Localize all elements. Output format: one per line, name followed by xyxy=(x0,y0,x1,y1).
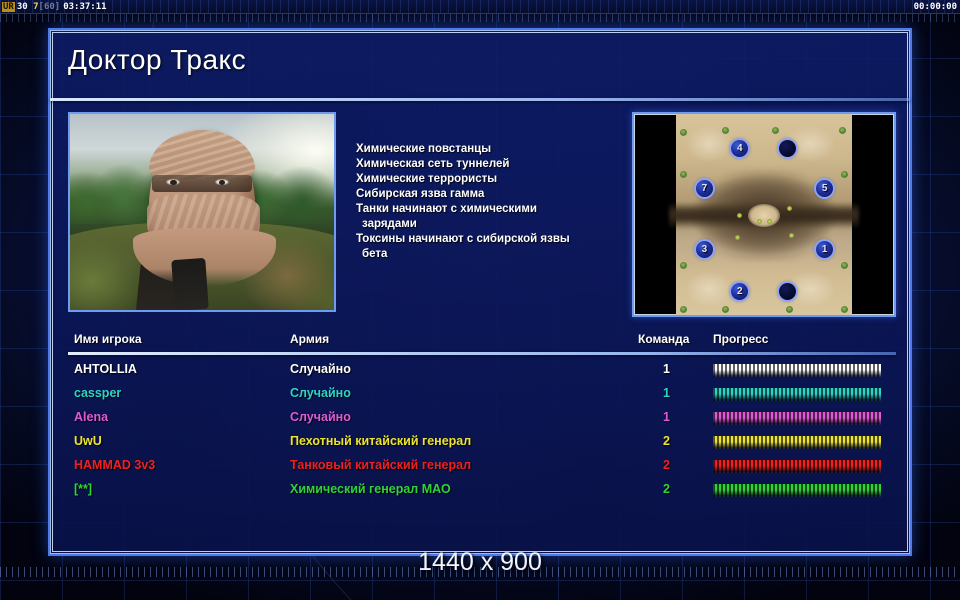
map-center-oasis xyxy=(748,204,780,226)
hud-status-strip: UR30 7[60]03:37:11 00:00:00 xyxy=(0,0,960,14)
progress-bar-stripes xyxy=(713,412,881,425)
map-preview-image: 475312 xyxy=(676,114,853,315)
player-team: 2 xyxy=(638,482,670,496)
player-team: 2 xyxy=(638,434,670,448)
portrait-weapon xyxy=(171,258,209,311)
progress-bar-stripes xyxy=(713,436,881,449)
progress-bar-stripes xyxy=(713,388,881,401)
map-start-position-marker[interactable]: 3 xyxy=(696,241,713,258)
general-abilities-list: Химические повстанцыХимическая сеть тунн… xyxy=(356,142,646,262)
player-army: Танковый китайский генерал xyxy=(290,458,471,472)
player-name: Alena xyxy=(74,410,108,424)
map-tree-icon xyxy=(772,127,779,134)
player-army: Пехотный китайский генерал xyxy=(290,434,471,448)
player-team: 1 xyxy=(638,386,670,400)
player-army: Случайно xyxy=(290,386,351,400)
player-progress-bar xyxy=(713,484,881,497)
content-row: Химические повстанцыХимическая сеть тунн… xyxy=(68,112,896,324)
map-start-position-marker[interactable] xyxy=(779,140,796,157)
player-progress-bar xyxy=(713,436,881,449)
map-supply-icon xyxy=(789,233,794,238)
column-header-team: Команда xyxy=(638,332,689,346)
ability-line: Токсины начинают с сибирской язвы xyxy=(356,232,646,247)
player-name: cassper xyxy=(74,386,121,400)
frame-cap: [60] xyxy=(39,2,61,12)
player-name: HAMMAD 3v3 xyxy=(74,458,155,472)
game-clock: 03:37:11 xyxy=(63,2,106,12)
ability-line: Сибирская язва гамма xyxy=(356,187,646,202)
map-supply-icon xyxy=(757,219,762,224)
player-team: 2 xyxy=(638,458,670,472)
player-progress-track xyxy=(713,484,881,497)
map-tree-icon xyxy=(680,306,687,313)
network-clock: 00:00:00 xyxy=(914,1,957,13)
general-portrait-image xyxy=(70,114,334,310)
player-name: [**] xyxy=(74,482,92,496)
map-supply-icon xyxy=(737,213,742,218)
ability-line: Химические повстанцы xyxy=(356,142,646,157)
map-tree-icon xyxy=(841,306,848,313)
loading-screen-panel: Доктор Тракс Химиче xyxy=(48,28,912,556)
map-tree-icon xyxy=(680,262,687,269)
title-underline xyxy=(50,98,910,101)
fps-label: UR xyxy=(2,2,15,12)
player-list: Имя игрока Армия Команда Прогресс AHTOLL… xyxy=(68,332,896,540)
ability-line: зарядами xyxy=(356,217,646,232)
player-list-header: Имя игрока Армия Команда Прогресс xyxy=(68,332,896,352)
map-start-position-marker[interactable]: 2 xyxy=(731,283,748,300)
progress-bar-stripes xyxy=(713,460,881,473)
player-row[interactable]: UwUПехотный китайский генерал2 xyxy=(68,431,896,455)
player-progress-bar xyxy=(713,460,881,473)
map-start-position-marker[interactable] xyxy=(779,283,796,300)
ruler-ticks-top xyxy=(0,14,960,22)
player-row[interactable]: AlenaСлучайно1 xyxy=(68,407,896,431)
fps-value: 30 xyxy=(17,2,28,12)
player-progress-track xyxy=(713,460,881,473)
player-list-rows: AHTOLLIAСлучайно1cassperСлучайно1AlenaСл… xyxy=(68,359,896,503)
page-title: Доктор Тракс xyxy=(68,44,246,76)
player-name: AHTOLLIA xyxy=(74,362,137,376)
hud-tick-marks xyxy=(0,0,960,13)
column-header-army: Армия xyxy=(290,332,329,346)
player-progress-track xyxy=(713,388,881,401)
resolution-label: 1440 x 900 xyxy=(0,548,960,577)
fps-readout: UR30 7[60]03:37:11 xyxy=(2,1,107,13)
ability-line: Танки начинают с химическими xyxy=(356,202,646,217)
player-row[interactable]: cassperСлучайно1 xyxy=(68,383,896,407)
player-progress-bar xyxy=(713,364,881,377)
portrait-pupil-left xyxy=(170,180,176,185)
player-progress-track xyxy=(713,436,881,449)
map-preview-frame: 475312 xyxy=(632,112,896,317)
ability-line: Химическая сеть туннелей xyxy=(356,157,646,172)
player-name: UwU xyxy=(74,434,102,448)
player-progress-track xyxy=(713,364,881,377)
player-list-header-rule xyxy=(68,352,896,355)
map-tree-icon xyxy=(680,171,687,178)
map-start-position-marker[interactable]: 5 xyxy=(816,180,833,197)
ability-line: бета xyxy=(356,247,646,262)
map-tree-icon xyxy=(680,129,687,136)
player-team: 1 xyxy=(638,362,670,376)
player-progress-track xyxy=(713,412,881,425)
map-tree-icon xyxy=(841,171,848,178)
player-army: Случайно xyxy=(290,410,351,424)
player-progress-bar xyxy=(713,388,881,401)
player-team: 1 xyxy=(638,410,670,424)
player-army: Химический генерал МАО xyxy=(290,482,451,496)
map-tree-icon xyxy=(722,306,729,313)
map-tree-icon xyxy=(841,262,848,269)
map-tree-icon xyxy=(839,127,846,134)
player-progress-bar xyxy=(713,412,881,425)
player-row[interactable]: AHTOLLIAСлучайно1 xyxy=(68,359,896,383)
player-army: Случайно xyxy=(290,362,351,376)
general-portrait-frame xyxy=(68,112,336,312)
progress-bar-stripes xyxy=(713,484,881,497)
map-terrain-blotch xyxy=(686,271,732,307)
map-start-position-marker[interactable]: 1 xyxy=(816,241,833,258)
column-header-progress: Прогресс xyxy=(713,332,768,346)
ability-line: Химические террористы xyxy=(356,172,646,187)
title-bar: Доктор Тракс xyxy=(50,36,910,98)
player-row[interactable]: [**]Химический генерал МАО2 xyxy=(68,479,896,503)
map-start-position-marker[interactable]: 4 xyxy=(731,140,748,157)
map-tree-icon xyxy=(786,306,793,313)
column-header-player-name: Имя игрока xyxy=(74,332,142,346)
player-row[interactable]: HAMMAD 3v3Танковый китайский генерал2 xyxy=(68,455,896,479)
map-supply-icon xyxy=(767,219,772,224)
progress-bar-stripes xyxy=(713,364,881,377)
